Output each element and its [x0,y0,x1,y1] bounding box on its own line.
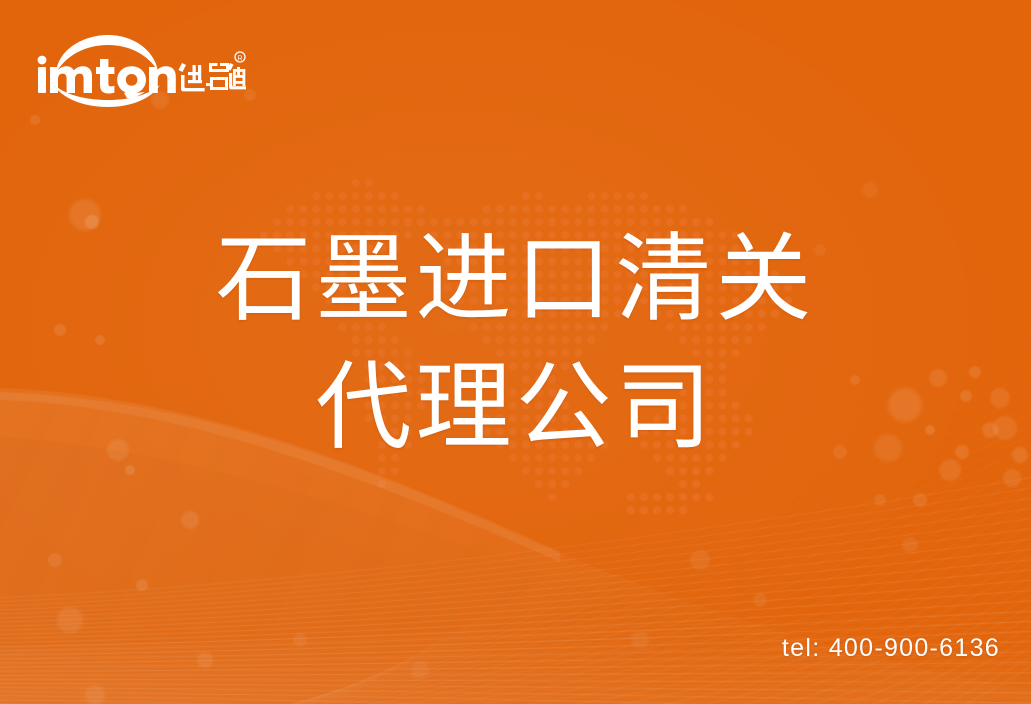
bokeh-circle [862,182,878,198]
bokeh-circle [69,199,101,231]
bokeh-circle [136,579,148,591]
globe-swoosh-icon: R [36,27,246,107]
bokeh-circle [690,550,710,570]
registered-trademark-icon: R [235,52,245,62]
bokeh-circle [48,553,62,567]
bokeh-circle [913,493,927,507]
bokeh-circle [411,661,429,679]
headline-line-1: 石墨进口清关 [0,232,1031,360]
bokeh-circle [30,115,40,125]
bokeh-circle [57,607,83,633]
brand-logo[interactable]: R [36,27,246,107]
svg-text:R: R [237,55,242,62]
bokeh-circle [902,537,918,553]
bokeh-circle [85,685,105,704]
bokeh-circle [197,652,213,668]
bokeh-circle [181,511,199,529]
headline-line-2: 代理公司 [0,360,1031,488]
headline: 石墨进口清关 代理公司 [0,232,1031,488]
bokeh-circle [631,631,649,649]
banner-root: R 石墨进口清关 代理公司 tel: 400-900-6136 [0,0,1031,704]
bokeh-circle [293,633,307,647]
bokeh-circle [85,215,99,229]
bokeh-circle [753,593,767,607]
bokeh-circle [874,494,886,506]
contact-phone: tel: 400-900-6136 [782,634,1000,663]
